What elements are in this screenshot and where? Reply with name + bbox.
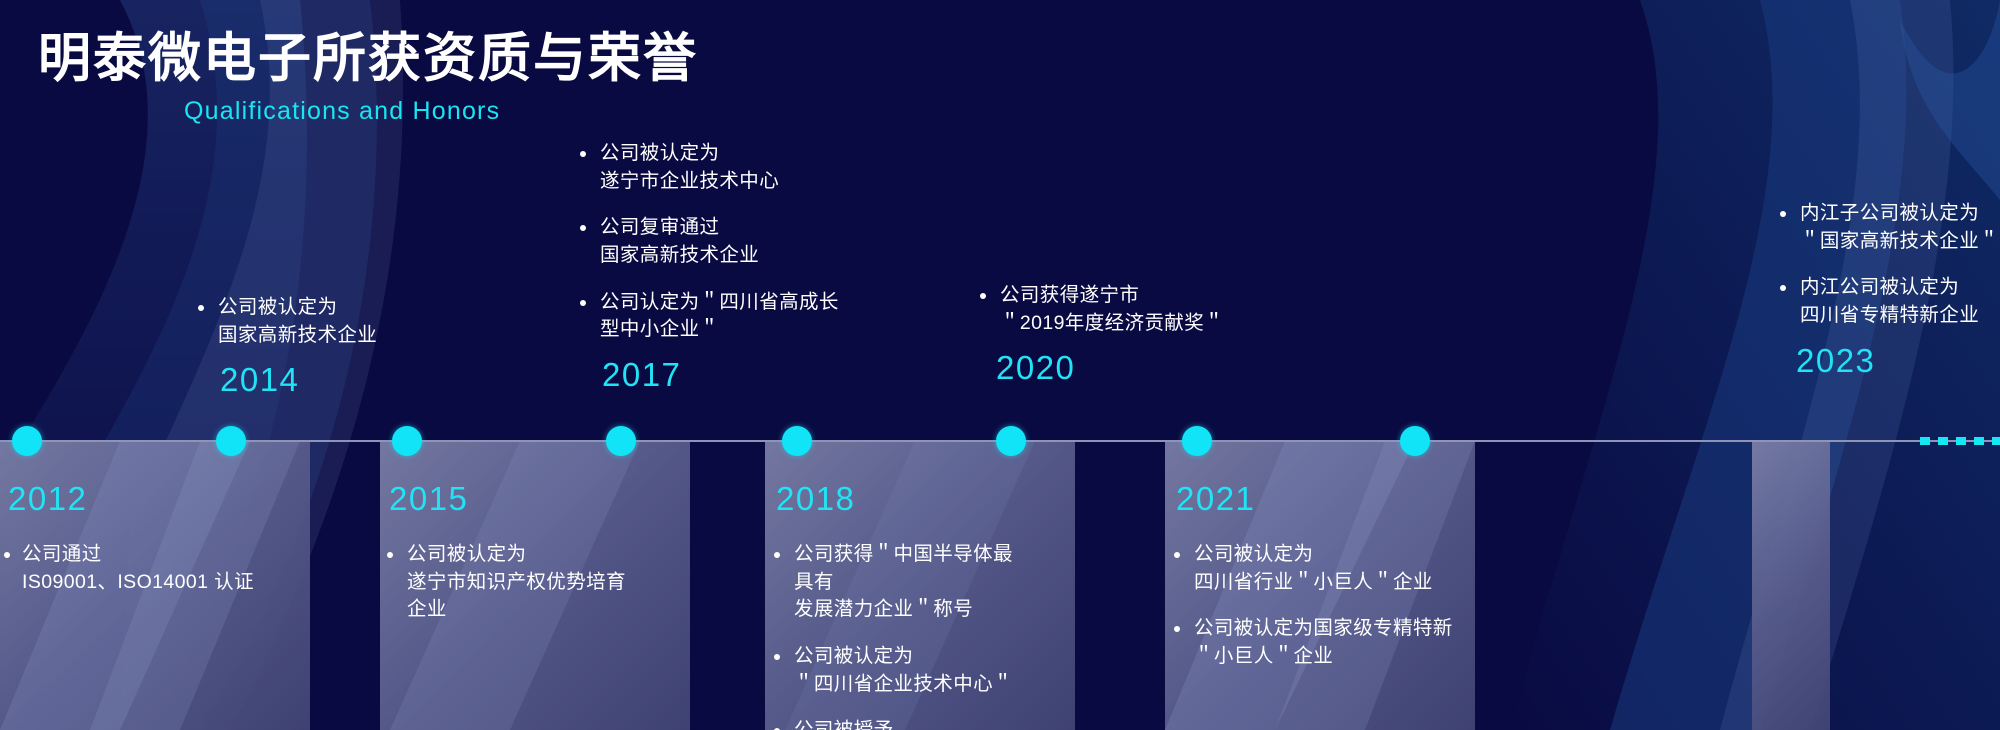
timeline-event-2012: 2012 公司通过 IS09001、ISO14001 认证 [4,482,304,596]
bullet-line: 公司被认定为 [407,541,630,569]
list-item: 公司获得＂中国半导体最具有 发展潜力企业＂称号 [772,541,1022,624]
timeline-node-2020[interactable] [996,426,1026,456]
event-year-label: 2018 [776,482,1022,515]
bullet-line: 发展潜力企业＂称号 [794,596,1022,624]
bullet-line: 公司认定为＂四川省高成长 [600,289,908,317]
timeline-event-2020: 公司获得遂宁市 ＂2019年度经济贡献奖＂ 2020 [978,282,1298,384]
list-item: 公司被认定为国家级专精特新 ＂小巨人＂企业 [1172,615,1462,670]
event-year-label: 2014 [220,363,496,396]
timeline-node-2023[interactable] [1400,426,1430,456]
bullet-line: 国家高新技术企业 [600,242,908,270]
list-item: 公司被认定为 四川省行业＂小巨人＂企业 [1172,541,1462,596]
event-year-label: 2012 [8,482,304,515]
bullet-line: 内江子公司被认定为 [1800,200,2000,228]
event-bullet-list: 公司被认定为 遂宁市知识产权优势培育企业 [385,541,630,624]
timeline-event-2015: 2015 公司被认定为 遂宁市知识产权优势培育企业 [385,482,630,624]
bullet-line: 四川省专精特新企业 [1800,302,2000,330]
bullet-line: 公司获得＂中国半导体最具有 [794,541,1022,596]
page-title: 明泰微电子所获资质与荣誉 [38,28,698,91]
bullet-line: ＂小巨人＂企业 [1194,643,1462,671]
list-item: 公司被授予 ＂遂宁市优秀民营企业＂称号 [772,717,1022,730]
event-bullet-list: 公司被认定为 遂宁市企业技术中心 公司复审通过 国家高新技术企业 公司认定为＂四… [578,140,908,344]
page-subtitle: Qualifications and Honors [184,97,698,126]
list-item: 公司通过 IS09001、ISO14001 认证 [4,541,304,596]
timeline-node-2018[interactable] [782,426,812,456]
bullet-line: 公司被授予 [794,717,1022,730]
list-item: 公司复审通过 国家高新技术企业 [578,214,908,269]
bullet-line: 公司复审通过 [600,214,908,242]
timeline-event-2014: 公司被认定为 国家高新技术企业 2014 [196,294,496,396]
bullet-line: 公司通过 [22,541,304,569]
event-bullet-list: 公司被认定为 四川省行业＂小巨人＂企业 公司被认定为国家级专精特新 ＂小巨人＂企… [1172,541,1462,671]
bullet-line: 公司被认定为 [794,643,1022,671]
bullet-line: ＂2019年度经济贡献奖＂ [1000,310,1298,338]
panel-2023-stub [1752,441,1830,730]
event-bullet-list: 公司获得遂宁市 ＂2019年度经济贡献奖＂ [978,282,1298,337]
event-bullet-list: 公司通过 IS09001、ISO14001 认证 [4,541,304,596]
event-year-label: 2021 [1176,482,1462,515]
list-item: 公司被认定为 ＂四川省企业技术中心＂ [772,643,1022,698]
timeline-event-2023: 内江子公司被认定为 ＂国家高新技术企业＂ 内江公司被认定为 四川省专精特新企业 … [1778,200,2000,377]
list-item: 公司被认定为 国家高新技术企业 [196,294,496,349]
event-year-label: 2015 [389,482,630,515]
bullet-line: 公司被认定为 [1194,541,1462,569]
timeline-event-2018: 2018 公司获得＂中国半导体最具有 发展潜力企业＂称号 公司被认定为 ＂四川省… [772,482,1022,730]
list-item: 内江子公司被认定为 ＂国家高新技术企业＂ [1778,200,2000,255]
event-year-label: 2023 [1796,344,2000,377]
bullet-line: IS09001、ISO14001 认证 [22,569,304,597]
timeline-node-2015[interactable] [392,426,422,456]
header: 明泰微电子所获资质与荣誉 Qualifications and Honors [38,28,698,126]
timeline-node-2017[interactable] [606,426,636,456]
event-bullet-list: 公司被认定为 国家高新技术企业 [196,294,496,349]
bullet-line: 遂宁市知识产权优势培育企业 [407,569,630,624]
event-bullet-list: 公司获得＂中国半导体最具有 发展潜力企业＂称号 公司被认定为 ＂四川省企业技术中… [772,541,1022,730]
bullet-line: 公司被认定为 [600,140,908,168]
bullet-line: 内江公司被认定为 [1800,274,2000,302]
timeline-event-2017: 公司被认定为 遂宁市企业技术中心 公司复审通过 国家高新技术企业 公司认定为＂四… [578,140,908,391]
timeline-node-2014[interactable] [216,426,246,456]
list-item: 公司被认定为 遂宁市知识产权优势培育企业 [385,541,630,624]
slide-canvas: 明泰微电子所获资质与荣誉 Qualifications and Honors [0,0,2000,730]
event-year-label: 2020 [996,351,1298,384]
bullet-line: 国家高新技术企业 [218,322,496,350]
bullet-line: ＂四川省企业技术中心＂ [794,671,1022,699]
list-item: 公司认定为＂四川省高成长 型中小企业＂ [578,289,908,344]
bullet-line: 型中小企业＂ [600,316,908,344]
bullet-line: 公司被认定为 [218,294,496,322]
list-item: 公司被认定为 遂宁市企业技术中心 [578,140,908,195]
event-bullet-list: 内江子公司被认定为 ＂国家高新技术企业＂ 内江公司被认定为 四川省专精特新企业 [1778,200,2000,330]
timeline-node-2021[interactable] [1182,426,1212,456]
timeline-event-2021: 2021 公司被认定为 四川省行业＂小巨人＂企业 公司被认定为国家级专精特新 ＂… [1172,482,1462,671]
timeline-node-2012[interactable] [12,426,42,456]
bullet-line: 公司获得遂宁市 [1000,282,1298,310]
event-year-label: 2017 [602,358,908,391]
list-item: 内江公司被认定为 四川省专精特新企业 [1778,274,2000,329]
timeline-axis-continuation [1920,437,2000,445]
list-item: 公司获得遂宁市 ＂2019年度经济贡献奖＂ [978,282,1298,337]
bullet-line: 遂宁市企业技术中心 [600,168,908,196]
bullet-line: 四川省行业＂小巨人＂企业 [1194,569,1462,597]
bullet-line: ＂国家高新技术企业＂ [1800,228,2000,256]
bullet-line: 公司被认定为国家级专精特新 [1194,615,1462,643]
